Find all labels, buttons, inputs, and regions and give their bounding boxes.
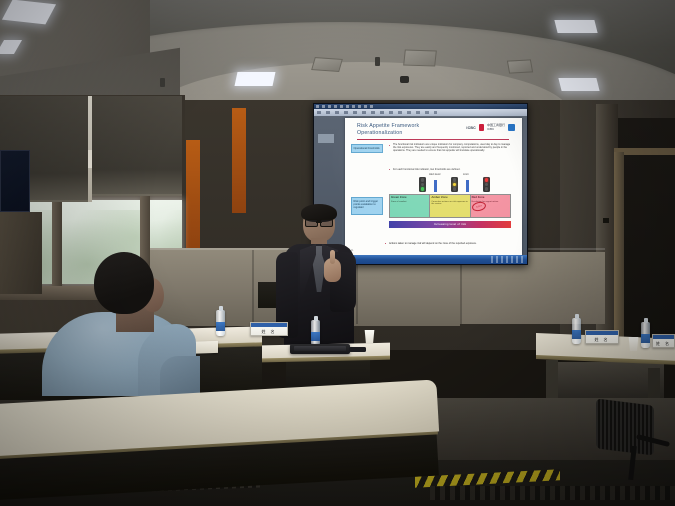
slide-thumbnail[interactable] bbox=[318, 134, 334, 143]
attendee-arm bbox=[160, 356, 200, 396]
chair-mesh-back bbox=[596, 398, 654, 455]
security-camera-icon bbox=[400, 76, 409, 83]
red-zone-title: Red Zone bbox=[472, 196, 509, 199]
ledge-seam bbox=[252, 250, 254, 324]
air-vent-icon bbox=[507, 59, 533, 73]
slide-title: Risk Appetite Framework Operationalizati… bbox=[357, 123, 462, 137]
sprinkler-icon bbox=[375, 57, 380, 66]
laptop[interactable] bbox=[290, 344, 350, 354]
slide-bullet-1: The functional risk indicators are uniqu… bbox=[393, 143, 511, 153]
ceiling-light bbox=[558, 78, 599, 91]
slide-bullet-3: Actions taken to manage risk will depend… bbox=[389, 242, 511, 245]
amber-light-icon bbox=[451, 177, 458, 192]
blind-pull-cord[interactable] bbox=[88, 150, 92, 168]
chinese-bank-logo: 中国工商银行ICBC bbox=[487, 124, 505, 130]
seated-attendee bbox=[42, 250, 192, 396]
increasing-risk-bar: Increasing level of risk bbox=[389, 221, 511, 228]
threshold-marker-alert bbox=[434, 180, 437, 192]
threshold-label-limit: Limit bbox=[463, 173, 468, 176]
threshold-label-alert: Alert level bbox=[429, 173, 440, 176]
air-vent-icon bbox=[403, 49, 437, 66]
attendee-head bbox=[94, 252, 154, 314]
bullet-dot-icon bbox=[385, 243, 386, 244]
callout-operational-thresholds: Operational thresholds bbox=[351, 144, 383, 153]
green-light-icon bbox=[419, 177, 426, 192]
name-card: 姓 名 bbox=[250, 322, 288, 336]
water-bottle[interactable] bbox=[572, 318, 581, 344]
slide-logos: ICBC 中国工商银行ICBC bbox=[466, 124, 515, 131]
threshold-marker-limit bbox=[466, 180, 469, 192]
name-card-text: 姓 名 bbox=[586, 337, 618, 343]
powerpoint-ribbon bbox=[314, 109, 527, 116]
side-cabinet bbox=[0, 212, 42, 294]
glasses-icon bbox=[305, 219, 333, 225]
name-card-text: 姓 名 bbox=[653, 341, 674, 347]
green-zone-subtitle: Zone of comfort bbox=[391, 201, 428, 204]
red-light-icon bbox=[483, 177, 490, 192]
risk-zone-row: Green Zone Zone of comfort Amber Zone Co… bbox=[389, 194, 511, 218]
slide-canvas: Risk Appetite Framework Operationalizati… bbox=[345, 118, 522, 255]
slide-bullet-2: For each functional risk indicator, two … bbox=[393, 168, 511, 171]
roller-blind[interactable] bbox=[92, 96, 182, 196]
phone[interactable] bbox=[349, 347, 366, 352]
office-chair[interactable] bbox=[596, 402, 670, 480]
amber-zone-subtitle: Corrective actions on risk exposure in t… bbox=[431, 201, 468, 206]
orange-wall-panel bbox=[232, 108, 246, 213]
amber-zone: Amber Zone Corrective actions on risk ex… bbox=[430, 195, 470, 217]
name-card-text: 姓 名 bbox=[251, 329, 287, 335]
door-frame bbox=[614, 152, 624, 352]
icbc-mark-icon bbox=[479, 124, 484, 131]
sprinkler-icon bbox=[160, 78, 165, 87]
system-tray[interactable] bbox=[491, 256, 525, 263]
slide-title-rule bbox=[357, 139, 509, 140]
floor-grate bbox=[430, 486, 675, 500]
presenter-pointing-finger bbox=[330, 250, 335, 264]
conference-room-photo: Risk Appetite Framework Operationalizati… bbox=[0, 0, 675, 506]
water-bottle[interactable] bbox=[311, 320, 320, 346]
water-bottle[interactable] bbox=[216, 310, 225, 336]
green-zone-title: Green Zone bbox=[391, 196, 428, 199]
bullet-dot-icon bbox=[389, 169, 390, 170]
wall-poster bbox=[0, 150, 30, 212]
ceiling-light bbox=[554, 20, 597, 33]
wall-sign-icon bbox=[603, 218, 609, 223]
ceiling-light bbox=[235, 72, 276, 86]
name-card: 姓 名 bbox=[652, 334, 675, 348]
name-card: 姓 名 bbox=[585, 330, 619, 344]
icbc-logo: ICBC bbox=[466, 126, 476, 130]
bullet-dot-icon bbox=[389, 145, 390, 146]
blind-gap bbox=[88, 96, 92, 202]
orange-wall-panel bbox=[186, 140, 200, 250]
partner-logo-icon bbox=[508, 124, 515, 131]
green-zone: Green Zone Zone of comfort bbox=[390, 195, 430, 217]
amber-zone-title: Amber Zone bbox=[431, 196, 468, 199]
air-vent-icon bbox=[311, 57, 343, 72]
water-bottle[interactable] bbox=[641, 322, 650, 348]
